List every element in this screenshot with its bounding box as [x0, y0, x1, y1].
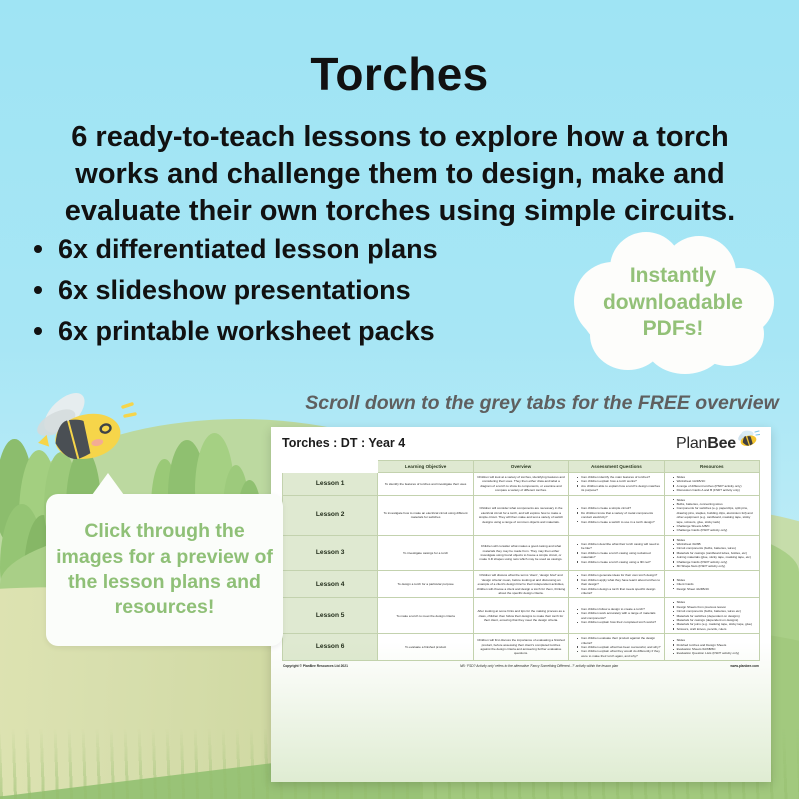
lesson-resources: SlidesBulbs, batteries, connecting wires… — [664, 495, 759, 535]
list-item: Can children describe what their torch c… — [577, 542, 660, 551]
lesson-questions: Can children create a simple circuit?Do … — [569, 495, 664, 535]
list-item: Can children create a switch to use in a… — [577, 520, 660, 524]
list-item: Can children apply what they have learnt… — [577, 578, 660, 587]
col-resources: Resources — [664, 461, 759, 473]
list-item: 6x differentiated lesson plans — [26, 229, 546, 270]
lesson-overview-document[interactable]: Torches : DT : Year 4 PlanBee — [271, 427, 771, 782]
table-row: Lesson 3To investigate casings for a tor… — [283, 535, 760, 571]
lesson-objective: To design a torch for a particular purpo… — [378, 571, 473, 598]
lesson-objective: To identify the features of torches and … — [378, 473, 473, 496]
brand-bold: Bee — [707, 435, 736, 452]
document-title: Torches : DT : Year 4 — [282, 436, 405, 450]
feature-label: 6x printable worksheet packs — [58, 316, 435, 346]
feature-label: 6x differentiated lesson plans — [58, 234, 438, 264]
list-item: Can children explain what they would do … — [577, 649, 660, 658]
lesson-rows: Lesson 1To identify the features of torc… — [283, 473, 760, 661]
lesson-objective: To investigate how to make an electrical… — [378, 495, 473, 535]
lesson-resources: SlidesClient CardsDesign Sheet 4A/4B/4C — [664, 571, 759, 598]
list-item: Can children explain how their completed… — [577, 620, 660, 624]
lesson-label: Lesson 4 — [283, 571, 378, 598]
scroll-hint: Scroll down to the grey tabs for the FRE… — [297, 392, 787, 415]
lesson-objective: To make a torch to meet the design crite… — [378, 598, 473, 634]
list-item: Do children know that a variety of metal… — [577, 511, 660, 520]
lesson-label: Lesson 6 — [283, 634, 378, 661]
table-row: Lesson 2To investigate how to make an el… — [283, 495, 760, 535]
lesson-overview: Children will consider what components a… — [473, 495, 568, 535]
col-assessment-questions: Assessment Questions — [569, 461, 664, 473]
table-row: Lesson 1To identify the features of torc… — [283, 473, 760, 496]
col-blank — [283, 461, 378, 473]
lesson-label: Lesson 3 — [283, 535, 378, 571]
list-item: Can children work accurately with a rang… — [577, 611, 660, 620]
bullet-icon — [34, 245, 42, 253]
list-item: Evaluation Question Lists (FSD? activity… — [673, 651, 756, 655]
col-learning-objective: Learning Objective — [378, 461, 473, 473]
feature-list: 6x differentiated lesson plans 6x slides… — [26, 229, 546, 352]
lesson-resources: SlidesWorksheet 1A/1B/1CA range of diffe… — [664, 473, 759, 496]
list-item: Can children design a torch that meets s… — [577, 587, 660, 596]
table-header-row: Learning Objective Overview Assessment Q… — [283, 461, 760, 473]
list-item: Are children able to explain how a torch… — [577, 484, 660, 493]
lesson-objective: To investigate casings for a torch — [378, 535, 473, 571]
list-item: Components for switches (e.g. paperclips… — [673, 506, 756, 524]
lesson-questions: Can children generate ideas for their ow… — [569, 571, 664, 598]
badge-line-1: Instantly — [630, 263, 716, 290]
lesson-plan-table: Learning Objective Overview Assessment Q… — [282, 460, 760, 661]
lesson-resources: SlidesDesign Sheets from previous lesson… — [664, 598, 759, 634]
callout-text: Click through the images for a preview o… — [46, 519, 283, 620]
lesson-objective: To evaluate a finished product — [378, 634, 473, 661]
table-row: Lesson 6To evaluate a finished productCh… — [283, 634, 760, 661]
lesson-label: Lesson 2 — [283, 495, 378, 535]
table-row: Lesson 5To make a torch to meet the desi… — [283, 598, 760, 634]
list-item: 3D Shape Nets (FSD? activity only) — [673, 564, 756, 568]
lesson-overview: Children will first discuss the importan… — [473, 634, 568, 661]
badge-line-2: downloadable — [603, 290, 743, 317]
page-subtitle: 6 ready-to-teach lessons to explore how … — [44, 119, 756, 230]
poster-canvas: Torches 6 ready-to-teach lessons to expl… — [0, 0, 799, 799]
callout-tail-icon — [92, 473, 124, 495]
bee-icon — [24, 383, 144, 473]
list-item: Scissors, craft knives, pencils, rulers — [673, 627, 756, 631]
document-footer: Copyright © PlanBee Resources Ltd 2021 N… — [282, 664, 760, 668]
preview-callout[interactable]: Click through the images for a preview o… — [46, 494, 283, 646]
footer-note: NB: 'FSD? Activity only' refers to the a… — [460, 664, 618, 668]
lesson-questions: Can children evaluate their product agai… — [569, 634, 664, 661]
lesson-resources: SlidesWorksheet 3A/3BCircuit components … — [664, 535, 759, 571]
page-title: Torches — [0, 47, 799, 101]
table-row: Lesson 4To design a torch for a particul… — [283, 571, 760, 598]
list-item: Design Sheet 4A/4B/4C — [673, 587, 756, 591]
brand-light: Plan — [676, 435, 707, 452]
lesson-overview: Children will discuss what the terms 'cl… — [473, 571, 568, 598]
list-item: Discussion Cards A and B (FSD? activity … — [673, 488, 756, 492]
lesson-questions: Can children follow a design to create a… — [569, 598, 664, 634]
badge-line-3: PDFs! — [643, 316, 704, 343]
badge-text: Instantly downloadable PDFs! — [566, 228, 780, 378]
bee-icon — [734, 430, 760, 448]
instant-download-badge: Instantly downloadable PDFs! — [566, 228, 780, 378]
lesson-label: Lesson 1 — [283, 473, 378, 496]
list-item: Challenge Cards (FSD? activity only) — [673, 528, 756, 532]
planbee-wordmark: PlanBee — [676, 436, 736, 452]
bullet-icon — [34, 327, 42, 335]
feature-label: 6x slideshow presentations — [58, 275, 411, 305]
lesson-overview: Children will look at a variety of torch… — [473, 473, 568, 496]
lesson-questions: Can children identify the main features … — [569, 473, 664, 496]
footer-url[interactable]: www.planbee.com — [730, 664, 759, 668]
col-overview: Overview — [473, 461, 568, 473]
footer-copyright: Copyright © PlanBee Resources Ltd 2021 — [283, 664, 348, 668]
lesson-overview: After looking at some hints and tips for… — [473, 598, 568, 634]
list-item: Can children evaluate their product agai… — [577, 636, 660, 645]
list-item: 6x slideshow presentations — [26, 270, 546, 311]
planbee-logo: PlanBee — [676, 436, 760, 452]
bullet-icon — [34, 286, 42, 294]
lesson-questions: Can children describe what their torch c… — [569, 535, 664, 571]
lesson-resources: SlidesFinished torches and Design Sheets… — [664, 634, 759, 661]
list-item: Can children create a torch casing using… — [577, 560, 660, 564]
document-header: Torches : DT : Year 4 PlanBee — [282, 436, 760, 458]
list-item: 6x printable worksheet packs — [26, 311, 546, 352]
list-item: Can children create a torch casing using… — [577, 551, 660, 560]
lesson-label: Lesson 5 — [283, 598, 378, 634]
lesson-overview: Children will consider what makes a good… — [473, 535, 568, 571]
